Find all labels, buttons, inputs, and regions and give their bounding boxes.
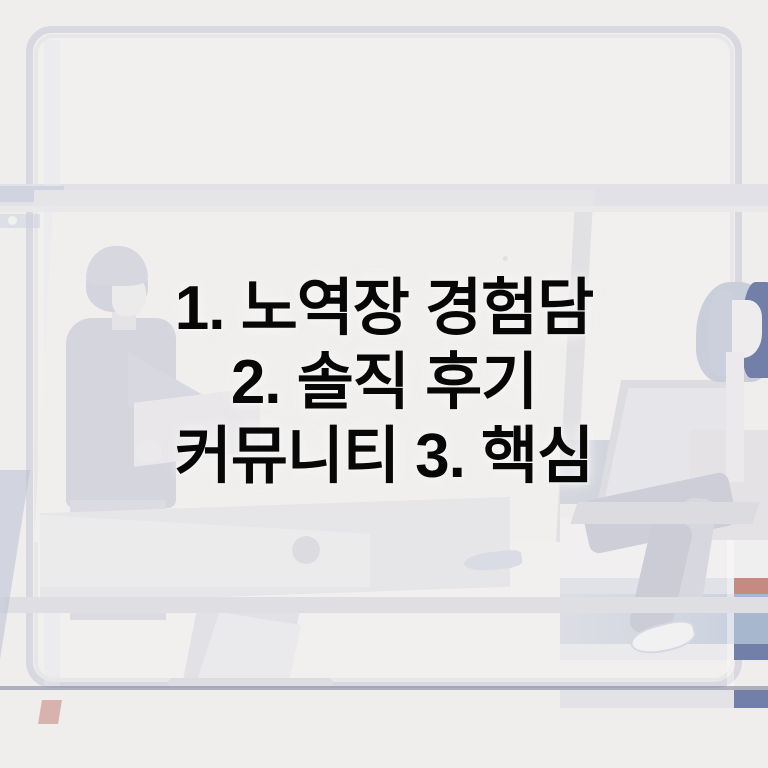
headline-line-1: 1. 노역장 경험담 (0, 272, 768, 346)
desk-band (0, 597, 768, 613)
laptop-base (570, 502, 759, 524)
headline-line-3: 커뮤니티 3. 핵심 (0, 420, 768, 494)
book-spine (734, 690, 768, 708)
vertical-accent-bar-red (38, 700, 62, 724)
monitor-power-button-icon (292, 536, 320, 564)
headline-text-block: 1. 노역장 경험담 2. 솔직 후기 커뮤니티 3. 핵심 (0, 272, 768, 494)
book-stack-item (560, 690, 768, 708)
headline-line-2: 2. 솔직 후기 (0, 346, 768, 420)
vertical-accent-bar-b (0, 214, 40, 228)
accent-dot (8, 216, 17, 225)
book-spine (734, 644, 768, 660)
poster-canvas: 1. 노역장 경험담 2. 솔직 후기 커뮤니티 3. 핵심 (0, 0, 768, 768)
screen-glint-icon (503, 256, 508, 261)
monitor-screen-top-edge (34, 190, 595, 206)
book-spine (734, 578, 768, 594)
